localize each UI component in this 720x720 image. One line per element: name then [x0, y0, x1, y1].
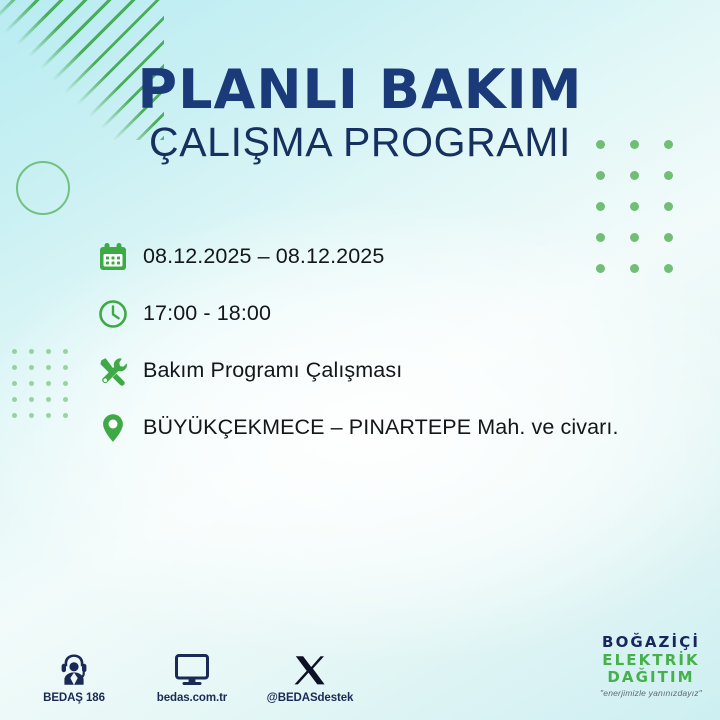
contact-phone-item[interactable]: BEDAŞ 186 [28, 647, 120, 704]
location-text: BÜYÜKÇEKMECE – PINARTEPE Mah. ve civarı. [143, 415, 619, 440]
clock-icon [97, 292, 143, 336]
work-type-text: Bakım Programı Çalışması [143, 358, 402, 383]
time-range-text: 17:00 - 18:00 [143, 301, 271, 326]
contact-website-label: bedas.com.tr [157, 692, 227, 704]
brand-line-elektrik: ELEKTRİK [600, 652, 702, 670]
brand-line-bogazici: BOĞAZİÇİ [600, 634, 702, 652]
headset-support-icon [57, 647, 91, 687]
list-item: BÜYÜKÇEKMECE – PINARTEPE Mah. ve civarı. [97, 399, 697, 456]
circle-outline-decoration [16, 161, 70, 215]
maintenance-details-list: 08.12.2025 – 08.12.2025 17:00 - 18:00 [97, 228, 697, 456]
contact-x-label: @BEDASdestek [267, 692, 354, 704]
contact-phone-label: BEDAŞ 186 [43, 692, 105, 704]
date-range-text: 08.12.2025 – 08.12.2025 [143, 244, 384, 269]
page-title: PLANLI BAKIM ÇALIŞMA PROGRAMI [0, 62, 720, 164]
contact-x-item[interactable]: @BEDASdestek [264, 647, 356, 704]
list-item: Bakım Programı Çalışması [97, 342, 697, 399]
monitor-icon [174, 647, 210, 687]
brand-line-dagitim: DAĞITIM [600, 669, 702, 687]
dot-grid-left-decoration [12, 349, 80, 429]
calendar-icon [97, 235, 143, 279]
title-subtitle: ÇALIŞMA PROGRAMI [0, 121, 720, 164]
list-item: 08.12.2025 – 08.12.2025 [97, 228, 697, 285]
location-pin-icon [97, 406, 143, 450]
footer-contact-links: BEDAŞ 186 bedas.com.tr @BEDASdestek [28, 647, 356, 704]
contact-website-item[interactable]: bedas.com.tr [146, 647, 238, 704]
x-twitter-icon [294, 647, 326, 687]
bedas-brand-logo: BOĞAZİÇİ ELEKTRİK DAĞITIM "enerjimizle y… [600, 634, 702, 698]
planned-maintenance-poster: PLANLI BAKIM ÇALIŞMA PROGRAMI [0, 0, 720, 720]
title-main: PLANLI BAKIM [0, 62, 720, 117]
brand-tagline: "enerjimizle yanınızdayız" [600, 688, 702, 698]
list-item: 17:00 - 18:00 [97, 285, 697, 342]
tools-icon [97, 349, 143, 393]
